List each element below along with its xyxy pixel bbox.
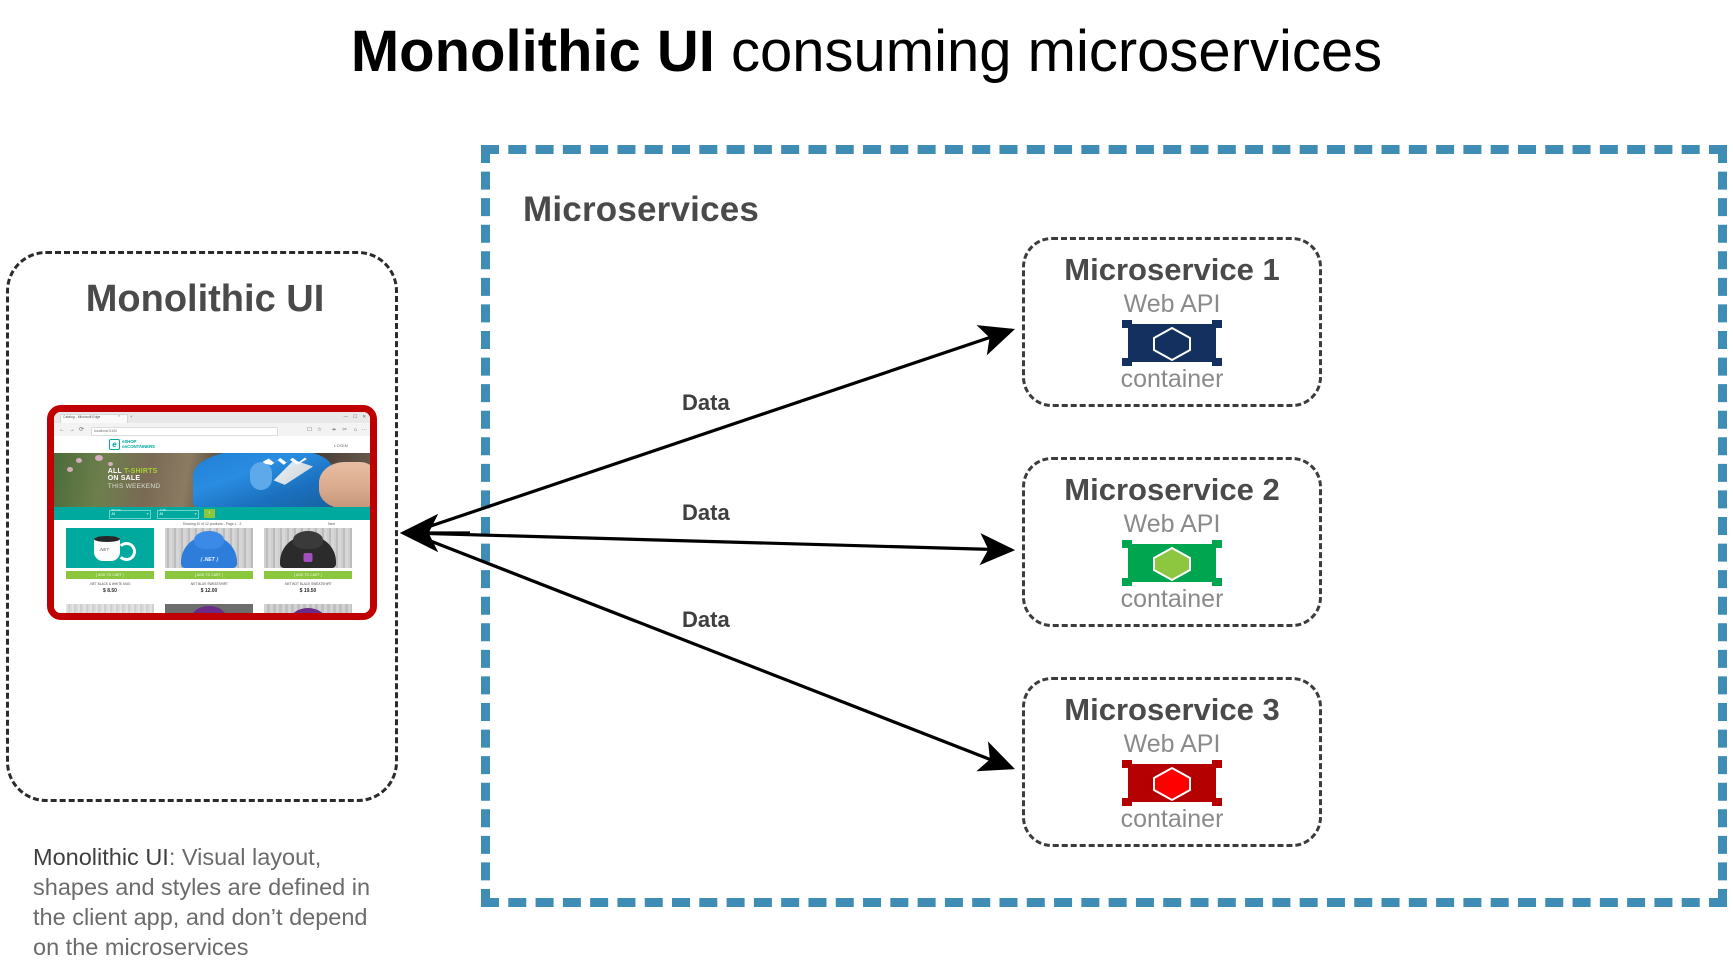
product-name: .NET BOT BLACK SWEATSHIRT [264, 582, 352, 586]
window-minimize-icon[interactable]: — [344, 414, 348, 419]
site-header: e eSHOP onCONTAINERS LOGIN [54, 436, 370, 453]
container-icon-navy [1122, 320, 1222, 366]
add-to-cart-button[interactable]: [ ADD TO CART ] [66, 571, 154, 579]
hero-text: ALL T-SHIRTS ON SALE THIS WEEKEND [108, 468, 161, 491]
reload-icon[interactable]: ⟳ [79, 427, 84, 433]
back-icon[interactable]: ← [59, 427, 65, 433]
type-filter-caption: TYPE [160, 509, 167, 512]
diagram-canvas: Monolithic UI consuming microservices Mi… [0, 0, 1733, 933]
product-name: .NET BLACK & WHITE MUG [66, 582, 154, 586]
product-grid: .NET [ ADD TO CART ] .NET BLACK & WHITE … [54, 528, 370, 618]
favorite-icon[interactable]: ☆ [317, 427, 322, 433]
filter-bar: BRAND All ▾ TYPE All ▾ › [54, 507, 370, 520]
forward-icon[interactable]: → [69, 427, 75, 433]
next-page-link[interactable]: Next [328, 522, 335, 526]
microservice-footer: container [1025, 365, 1319, 394]
apply-filter-button[interactable]: › [204, 509, 215, 517]
brand-filter-value: All [112, 512, 116, 516]
more-icon[interactable]: ··· [361, 427, 367, 433]
logo-mark-icon: e [109, 439, 120, 450]
microservice-subtitle: Web API [1025, 290, 1319, 319]
product-price: $ 19.50 [264, 588, 352, 594]
microservice-footer: container [1025, 805, 1319, 834]
microservice-title: Microservice 3 [1025, 692, 1319, 728]
add-to-cart-button[interactable]: [ ADD TO CART ] [165, 571, 253, 579]
browser-tab-title: Catalog - Microsoft Edge [63, 415, 100, 419]
new-tab-icon[interactable]: + [130, 414, 132, 419]
address-bar[interactable]: localhost:5100 [91, 427, 278, 436]
login-link[interactable]: LOGIN [334, 443, 348, 448]
monolithic-ui-title: Monolithic UI [9, 278, 401, 321]
site-logo[interactable]: e eSHOP onCONTAINERS [109, 439, 155, 450]
product-card[interactable] [165, 604, 253, 618]
data-label-3: Data [682, 607, 730, 633]
product-card[interactable]: .NET [ ADD TO CART ] .NET BLACK & WHITE … [66, 528, 154, 594]
microservices-region-label: Microservices [523, 190, 759, 230]
monolithic-ui-card: Monolithic UI Catalog - Microsoft Edge ×… [6, 251, 398, 802]
address-bar-value: localhost:5100 [94, 429, 117, 433]
monolithic-ui-description-lead: Monolithic UI [33, 844, 169, 870]
tab-close-icon[interactable]: × [118, 414, 120, 418]
product-price: $ 8.50 [66, 588, 154, 594]
chevron-down-icon: ▾ [195, 512, 197, 516]
microservice-subtitle: Web API [1025, 730, 1319, 759]
container-icon-green [1122, 540, 1222, 586]
results-count-text: Showing 10 of 12 products - Page 1 - 2 [183, 522, 242, 526]
browser-nav-bar: ← → ⟳ localhost:5100 ☐ ☆ ↠ ✂ ⌂ ··· [54, 423, 370, 437]
monolithic-ui-description: Monolithic UI: Visual layout, shapes and… [33, 842, 389, 962]
product-card[interactable] [264, 604, 352, 618]
microservice-title: Microservice 2 [1025, 472, 1319, 508]
web-note-icon[interactable]: ✂ [342, 427, 347, 433]
window-maximize-icon[interactable]: ☐ [353, 414, 357, 420]
share-icon[interactable]: ⌂ [354, 427, 357, 433]
type-filter-select[interactable]: TYPE All ▾ [157, 510, 199, 519]
product-card[interactable]: [ ADD TO CART ] .NET BOT BLACK SWEATSHIR… [264, 528, 352, 594]
logo-line-2: onCONTAINERS [122, 445, 155, 450]
hub-icon[interactable]: ↠ [331, 427, 336, 433]
microservice-title: Microservice 1 [1025, 252, 1319, 288]
data-label-2: Data [682, 500, 730, 526]
brand-filter-select[interactable]: BRAND All ▾ [109, 510, 151, 519]
hero-line3: THIS WEEKEND [108, 483, 161, 491]
hero-banner: ALL T-SHIRTS ON SALE THIS WEEKEND [54, 453, 370, 507]
product-price: $ 12.00 [165, 588, 253, 594]
results-bar: Showing 10 of 12 products - Page 1 - 2 N… [54, 520, 370, 528]
microservice-subtitle: Web API [1025, 510, 1319, 539]
container-icon-red [1122, 760, 1222, 806]
add-to-cart-button[interactable]: [ ADD TO CART ] [264, 571, 352, 579]
page-title-strong: Monolithic UI [351, 19, 715, 84]
page-title: Monolithic UI consuming microservices [0, 22, 1733, 83]
window-close-icon[interactable]: ✕ [362, 414, 366, 420]
chevron-down-icon: ▾ [147, 512, 149, 516]
product-image-blue-hoodie: ⟨ .NET ⟩ [165, 528, 253, 568]
microservice-footer: container [1025, 585, 1319, 614]
reading-view-icon[interactable]: ☐ [307, 427, 312, 433]
brand-filter-caption: BRAND [112, 509, 121, 512]
product-image-black-hoodie [264, 528, 352, 568]
product-card[interactable]: ⟨ .NET ⟩ [ ADD TO CART ] .NET BLUE SWEAT… [165, 528, 253, 594]
data-label-1: Data [682, 390, 730, 416]
hero-line1-plain: ALL [108, 468, 124, 475]
type-filter-value: All [160, 512, 164, 516]
hero-line1-accent: T-SHIRTS [124, 468, 158, 475]
hero-line2: ON SALE [108, 475, 161, 483]
microservice-card-3: Microservice 3 Web API container [1022, 677, 1322, 847]
microservice-card-1: Microservice 1 Web API container [1022, 237, 1322, 407]
product-name: .NET BLUE SWEATSHIRT [165, 582, 253, 586]
mug-net-logo: .NET [99, 547, 109, 552]
product-card[interactable] [66, 604, 154, 618]
microservice-card-2: Microservice 2 Web API container [1022, 457, 1322, 627]
browser-screenshot: Catalog - Microsoft Edge × + — ☐ ✕ ← → ⟳… [47, 405, 377, 620]
page-title-light: consuming microservices [715, 19, 1382, 84]
product-image-mug: .NET [66, 528, 154, 568]
